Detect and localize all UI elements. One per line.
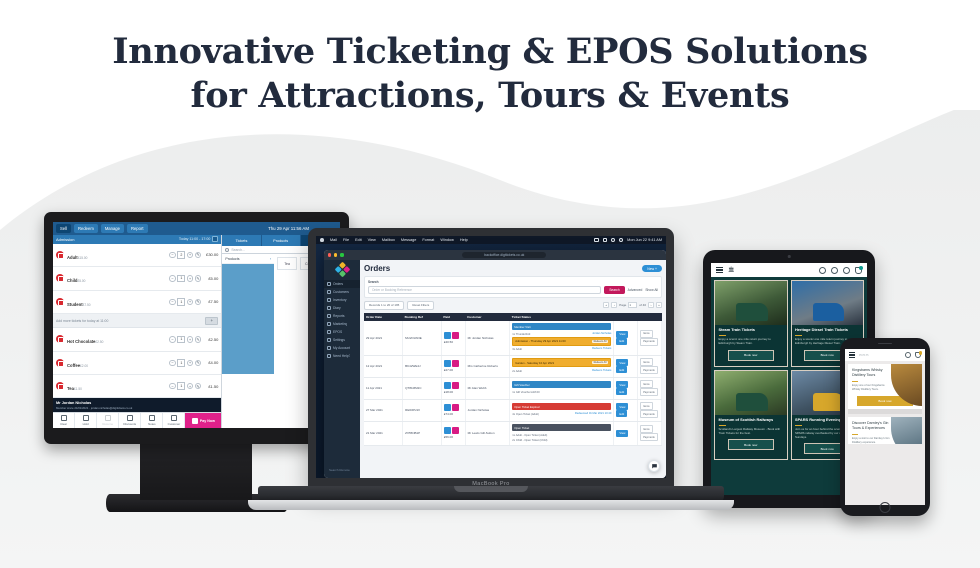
minus-icon[interactable]: −: [169, 252, 176, 259]
pos-pay-now-button[interactable]: Pay Now: [185, 413, 221, 428]
clear-icon: [61, 415, 67, 421]
product-title: Heritage Diesel Train Tickets: [795, 328, 860, 333]
menu-item-edit[interactable]: Edit: [355, 238, 362, 242]
basket-title: Admission: [56, 237, 74, 242]
line-sub: £2.00: [80, 364, 88, 368]
admin-app: Orders Customers Inventory Diary Reports…: [324, 260, 666, 478]
line-name: Student: [67, 302, 83, 307]
orders-icon: [327, 282, 331, 286]
account-icon[interactable]: [831, 267, 838, 274]
minus-icon[interactable]: −: [169, 336, 176, 343]
items-button[interactable]: Items: [640, 425, 652, 433]
qty-value[interactable]: 1: [177, 382, 185, 390]
table-row[interactable]: 29 Apr 2021 MU2OLW3E £40.50 Mr Jordan Ni…: [364, 321, 662, 356]
channel-icon: [444, 427, 451, 434]
table-row[interactable]: 27 Mar 2021 RE63PL9X £74.00 Jordan Nicho…: [364, 399, 662, 421]
cell-actions: ViewEdit: [614, 399, 638, 421]
menu-item-window[interactable]: Window: [440, 238, 454, 242]
menu-item-help[interactable]: Help: [460, 238, 468, 242]
pagination: « ‹ Page 1 of 40 › »: [603, 302, 662, 308]
line-name: Child: [67, 278, 77, 283]
cell-paid: £40.50: [441, 321, 465, 356]
macbook-screen: Mail File Edit View Mailbox Message Form…: [316, 236, 666, 478]
sidebar-item-reports[interactable]: Reports: [324, 312, 360, 320]
cell-status: Open Ticket 1x Adult - Open Ticket (Adul…: [510, 421, 614, 446]
cell-status: Member Visit 1x ThunderbirdJordan Nichol…: [510, 321, 614, 356]
divider: [795, 425, 802, 426]
minus-icon[interactable]: −: [169, 383, 176, 390]
search-icon: [225, 248, 229, 252]
browser-window: backoffice.digitickets.co.uk Orders Cust…: [324, 250, 666, 478]
line-sub: £15.00: [78, 256, 88, 260]
minus-icon[interactable]: −: [169, 360, 176, 367]
page-title: Innovative Ticketing & EPOS Solutions fo…: [0, 30, 980, 118]
remove-icon[interactable]: [56, 298, 64, 306]
status-badge: Open Ticket Expired: [512, 403, 611, 410]
marketing-icon: [327, 322, 331, 326]
admin-sidebar: Orders Customers Inventory Diary Reports…: [324, 260, 360, 478]
cell-customer: Mr Lewis Gill-Sutton: [465, 421, 510, 446]
cell-paid: £56.00: [441, 421, 465, 446]
qty-stepper[interactable]: −2+✎: [169, 251, 201, 259]
status-subline: 1x ThunderbirdJordan Nicholas: [512, 332, 611, 337]
plus-icon[interactable]: +: [187, 299, 194, 306]
cart-badge: [919, 351, 923, 355]
admin-content: Orders New + Search Order or Booking Ref…: [360, 260, 666, 478]
line-sub: £2.50: [95, 340, 103, 344]
line-price: £7.50: [201, 299, 218, 304]
payment-icon: [452, 427, 459, 434]
plus-icon[interactable]: +: [187, 383, 194, 390]
search-submit-button[interactable]: Search: [604, 286, 624, 294]
cell-booking-ref: ZX55NB1P: [403, 421, 442, 446]
basket-line-item[interactable]: Adult£15.00 −2+✎ £30.00: [53, 244, 221, 267]
qty-stepper[interactable]: −1+✎: [169, 359, 201, 367]
menu-item-mail[interactable]: Mail: [330, 238, 337, 242]
qty-value[interactable]: 1: [177, 298, 185, 306]
remove-icon[interactable]: [56, 251, 64, 259]
divider: [852, 434, 858, 435]
line-name: Adult: [67, 255, 78, 260]
product-title: Museum of Scottish Railways: [719, 418, 784, 423]
view-button[interactable]: View: [616, 403, 628, 410]
remove-icon[interactable]: [56, 359, 64, 367]
line-price: £5.00: [201, 276, 218, 281]
col-customer: Customer: [465, 313, 510, 321]
sidebar-footer[interactable]: Search Remote: [324, 466, 360, 474]
status-subline: 3x AdultRedeem Tickets: [512, 347, 611, 352]
divider: [852, 381, 858, 382]
line-price: £30.00: [201, 252, 218, 257]
page-input[interactable]: 1: [628, 302, 637, 308]
cell-booking-ref: MU2OLW3E: [403, 321, 442, 356]
cell-order-date: 27 Mar 2021: [364, 399, 403, 421]
view-button[interactable]: View: [616, 430, 628, 437]
payments-button[interactable]: Payments: [640, 338, 658, 346]
phone-speaker: [878, 343, 892, 345]
status-subline: 2x Child - Open Ticket (Child): [512, 438, 611, 443]
qty-stepper[interactable]: −1+✎: [169, 382, 201, 390]
cell-more: ItemsPayments: [638, 377, 662, 399]
search-label: Search: [368, 280, 658, 284]
payment-icon: [452, 332, 459, 339]
hold-icon: [83, 415, 89, 421]
col-paid: Paid: [441, 313, 465, 321]
product-card[interactable]: Discover Darnley's Gin Tours & Experienc…: [848, 417, 922, 445]
line-price: £1.50: [201, 384, 218, 389]
basket-line-item[interactable]: Student£7.50 −1+✎ £7.50: [53, 291, 221, 314]
menu-item-mailbox[interactable]: Mailbox: [382, 238, 395, 242]
sidebar-item-orders[interactable]: Orders: [324, 280, 360, 288]
cell-customer: Jordan Nicholas: [465, 399, 510, 421]
cell-order-date: 11 Apr 2021: [364, 377, 403, 399]
cell-paid: £74.00: [441, 399, 465, 421]
product-description: Scotland's Largest Railway Museum - Book…: [719, 428, 784, 436]
col-ticket-status: Ticket Status: [510, 313, 614, 321]
pos-discounts-button[interactable]: Discounts: [119, 413, 141, 428]
qty-stepper[interactable]: −1+✎: [169, 336, 201, 344]
pos-stand-neck: [140, 440, 252, 500]
remove-icon[interactable]: [56, 335, 64, 343]
items-button[interactable]: Items: [640, 358, 652, 366]
product-card[interactable]: Kingsbarns Whisky Distillery Tours Enjoy…: [848, 364, 922, 414]
browser-titlebar: backoffice.digitickets.co.uk: [324, 250, 666, 260]
product-title: Kingsbarns Whisky Distillery Tours: [852, 368, 890, 378]
prev-page-button[interactable]: ‹: [611, 302, 617, 308]
add-tickets-button[interactable]: +: [205, 317, 218, 325]
sidebar-item-settings[interactable]: Settings: [324, 336, 360, 344]
reports-icon: [327, 314, 331, 318]
first-page-button[interactable]: «: [603, 302, 609, 308]
payments-button[interactable]: Payments: [640, 433, 658, 441]
line-name: Coffee: [67, 363, 80, 368]
pos-resume-button: Resume: [97, 413, 119, 428]
reset-filters-button[interactable]: Reset Filters: [407, 301, 434, 310]
orders-page-title: Orders: [364, 264, 390, 273]
edit-button[interactable]: Edit: [616, 388, 627, 395]
gin-distillery-photo: [891, 417, 922, 445]
cell-more: ItemsPayments: [638, 421, 662, 446]
plus-icon[interactable]: +: [187, 275, 194, 282]
page-total: of 40: [639, 303, 646, 307]
col-actions: [614, 313, 638, 321]
pos-tab-report[interactable]: Report: [127, 224, 148, 233]
items-button[interactable]: Items: [640, 380, 652, 388]
customer-name: Mr Jordan Nicholas: [56, 401, 91, 405]
menu-item-format[interactable]: Format: [422, 238, 434, 242]
cell-booking-ref: RE63PL9X: [403, 399, 442, 421]
calendar-icon[interactable]: [212, 236, 218, 242]
cell-order-date: 12 Apr 2021: [364, 355, 403, 377]
wifi-icon[interactable]: [619, 238, 623, 242]
search-icon[interactable]: [843, 267, 850, 274]
cart-icon[interactable]: [915, 352, 921, 358]
col-booking-ref: Booking Ref: [403, 313, 442, 321]
basket-header: Admission Today 11:00 - 17:00: [53, 235, 221, 244]
remove-icon[interactable]: [56, 274, 64, 282]
cell-customer: Mr Jordan Nicholas: [465, 321, 510, 356]
product-description: Enjoy one of our Kingsbarns Whisky Disti…: [852, 384, 890, 391]
plus-icon[interactable]: +: [187, 252, 194, 259]
brand-logo-icon: [334, 262, 350, 278]
battery-icon[interactable]: [594, 238, 599, 242]
qty-value[interactable]: 2: [177, 251, 185, 259]
status-subline: 4x Open Ticket (Adult)Redeemed 01 Mar 20…: [512, 412, 611, 417]
channel-icon: [444, 404, 451, 411]
resume-icon: [105, 415, 111, 421]
diary-icon: [327, 306, 331, 310]
cell-booking-ref: BK42WE4J: [403, 355, 442, 377]
line-sub: £7.50: [83, 303, 91, 307]
cell-actions: ViewEdit: [614, 355, 638, 377]
phone-home-button[interactable]: [880, 502, 891, 513]
hamburger-icon[interactable]: [849, 352, 855, 358]
content-header: Orders New +: [364, 264, 662, 273]
new-order-button[interactable]: New +: [642, 265, 662, 272]
pos-tab-redeem[interactable]: Redeem: [74, 224, 98, 233]
cell-more: ItemsPayments: [638, 355, 662, 377]
customer-bar[interactable]: Mr Jordan Nicholas Member since 24/01/20…: [53, 398, 221, 412]
channel-icon: [444, 332, 451, 339]
next-page-button[interactable]: ›: [648, 302, 654, 308]
col-order-date: Order Date: [364, 313, 403, 321]
customer-icon: [171, 415, 177, 421]
line-price: £4.00: [201, 360, 218, 365]
divider: [795, 335, 802, 336]
qty-value[interactable]: 1: [177, 359, 185, 367]
basket-line-item[interactable]: Child£5.00 −1+✎ £5.00: [53, 267, 221, 290]
plus-icon[interactable]: +: [187, 336, 194, 343]
view-button[interactable]: View: [616, 331, 628, 338]
show-all-link[interactable]: Show All: [645, 288, 658, 292]
brand-logo[interactable]: 🏛: [728, 267, 734, 273]
diesel-train-photo: [792, 281, 864, 325]
payment-icon: [452, 404, 459, 411]
pos-clear-button[interactable]: Clear: [53, 413, 75, 428]
redeem-all-button[interactable]: Redeem All: [592, 340, 609, 343]
edit-button[interactable]: Edit: [616, 366, 627, 373]
cell-customer: Mr Alan Webb: [465, 377, 510, 399]
account-icon: [327, 346, 331, 350]
table-row[interactable]: 11 Apr 2021 QT81MM2C £18.00 Mr Alan Webb…: [364, 377, 662, 399]
sidebar-item-need-help[interactable]: Need Help?: [324, 352, 360, 360]
cart-badge: [859, 266, 863, 270]
pos-action-bar: Clear Hold Resume Discounts Notes Custom…: [53, 412, 221, 428]
sidebar-item-inventory[interactable]: Inventory: [324, 296, 360, 304]
tablet-site-header: 🏛: [711, 263, 867, 277]
notes-icon: [149, 415, 155, 421]
channel-icon: [444, 360, 451, 367]
chat-bubble-icon[interactable]: [648, 460, 660, 472]
view-button[interactable]: View: [616, 359, 628, 366]
edit-button[interactable]: Edit: [616, 338, 627, 345]
headline-line-2: for Attractions, Tours & Events: [0, 74, 980, 118]
macos-clock[interactable]: Mon Jun 22 9:41 AM: [627, 238, 662, 242]
minus-icon[interactable]: −: [169, 299, 176, 306]
book-now-button[interactable]: Book now: [728, 439, 774, 450]
status-badge: Member Visit: [512, 323, 611, 330]
remove-icon[interactable]: [56, 382, 64, 390]
hero-banner: Innovative Ticketing & EPOS Solutions fo…: [0, 0, 980, 568]
minus-icon[interactable]: −: [169, 275, 176, 282]
status-badge: Admission - Thursday 29 Apr 2021 11:00Re…: [512, 337, 611, 346]
cell-actions: ViewEdit: [614, 377, 638, 399]
book-now-button[interactable]: Book now: [728, 350, 774, 361]
catalog-tab-tickets[interactable]: Tickets: [222, 235, 261, 246]
payments-button[interactable]: Payments: [640, 366, 658, 374]
customer-email: Member since 24/01/2021 · jordan.nichola…: [56, 406, 218, 410]
cell-actions: View: [614, 421, 638, 446]
basket-line-item[interactable]: Coffee£2.00 −1+✎ £4.00: [53, 352, 221, 375]
catalog-search-placeholder: Search...: [231, 248, 245, 252]
close-icon[interactable]: [328, 253, 331, 256]
macbook-notch: [454, 486, 528, 492]
steam-train-photo: [715, 281, 787, 325]
pos-hold-button[interactable]: Hold: [75, 413, 97, 428]
epos-icon: [327, 330, 331, 334]
redeem-all-button[interactable]: Redeem All: [592, 361, 609, 364]
line-name: Hot Chocolate: [67, 339, 95, 344]
plus-icon[interactable]: +: [187, 360, 194, 367]
phone-site-header: ▭▭▭: [845, 349, 925, 361]
channel-icon: [444, 382, 451, 389]
search-icon[interactable]: [611, 238, 615, 242]
sidebar-item-my-account[interactable]: My Account: [324, 344, 360, 352]
search-icon[interactable]: [905, 352, 911, 358]
items-button[interactable]: Items: [640, 330, 652, 338]
pos-tab-manage[interactable]: Manage: [101, 224, 124, 233]
cell-order-date: 29 Apr 2021: [364, 321, 403, 356]
add-tickets-label: Add more tickets for today at 11:00: [56, 319, 108, 323]
orders-table: Order Date Booking Ref Paid Customer Tic…: [364, 313, 662, 447]
inventory-icon: [327, 298, 331, 302]
line-sub: £5.00: [77, 279, 85, 283]
cell-paid: £27.00: [441, 355, 465, 377]
page-label: Page: [619, 303, 626, 307]
last-page-button[interactable]: »: [656, 302, 662, 308]
card-footer-strip: [848, 409, 922, 414]
search-card: Search Order or Booking Reference Search…: [364, 276, 662, 298]
settings-icon: [327, 338, 331, 342]
status-badge: Gift Voucher: [512, 381, 611, 388]
cart-icon[interactable]: [855, 267, 862, 274]
bluetooth-icon[interactable]: [603, 238, 608, 242]
qty-value[interactable]: 1: [177, 336, 185, 344]
product-description: Enjoy a scenic one mile return journey t…: [719, 338, 784, 346]
customers-icon: [327, 290, 331, 294]
cell-actions: ViewEdit: [614, 321, 638, 356]
address-bar[interactable]: backoffice.digitickets.co.uk: [462, 252, 546, 258]
cell-paid: £18.00: [441, 377, 465, 399]
search-input[interactable]: Order or Booking Reference: [368, 286, 601, 294]
macbook-lid: Mail File Edit View Mailbox Message Form…: [308, 228, 674, 490]
items-button[interactable]: Items: [640, 402, 652, 410]
macos-menubar: Mail File Edit View Mailbox Message Form…: [316, 236, 666, 244]
phone-screen: ▭▭▭ Kingsbarns Whisky Distillery Tours E…: [845, 349, 925, 505]
sidebar-item-diary[interactable]: Diary: [324, 304, 360, 312]
sidebar-item-epos[interactable]: EPOS: [324, 328, 360, 336]
product-title: Steam Train Tickets: [719, 328, 784, 333]
cell-more: ItemsPayments: [638, 399, 662, 421]
museum-visitors-photo: [715, 371, 787, 415]
menu-item-message[interactable]: Message: [401, 238, 416, 242]
payment-icon: [452, 360, 459, 367]
discount-icon: [127, 415, 133, 421]
cell-status: Garden - Saturday 10 Apr 2021Redeem All …: [510, 355, 614, 377]
basket-line-item[interactable]: Hot Chocolate£2.50 −1+✎ £2.50: [53, 328, 221, 351]
line-price: £2.50: [201, 337, 218, 342]
sidebar-item-marketing[interactable]: Marketing: [324, 320, 360, 328]
advanced-search-link[interactable]: Advanced: [628, 288, 643, 292]
maximize-icon[interactable]: [340, 253, 343, 256]
payments-button[interactable]: Payments: [640, 388, 658, 396]
table-row[interactable]: 12 Apr 2021 BK42WE4J £27.00 Mrs Catherin…: [364, 355, 662, 377]
product-description: Enjoy a visit to our Darnley's Gin Disti…: [852, 437, 890, 444]
product-title: Discover Darnley's Gin Tours & Experienc…: [852, 421, 890, 431]
status-badge: Garden - Saturday 10 Apr 2021Redeem All: [512, 358, 611, 367]
macbook-foot: [248, 500, 734, 510]
card-icon: [192, 418, 198, 424]
home-icon[interactable]: [819, 267, 826, 274]
apple-icon[interactable]: [320, 238, 324, 242]
edit-button[interactable]: Edit: [616, 410, 627, 417]
basket-meta: Today 11:00 - 17:00: [179, 236, 219, 242]
product-card[interactable]: Museum of Scottish Railways Scotland's L…: [714, 370, 788, 461]
status-subline: 2x AdultRedeem Tickets: [512, 369, 611, 374]
cell-order-date: 21 Mar 2021: [364, 421, 403, 446]
line-name: Tea: [67, 386, 74, 391]
help-icon: [327, 354, 331, 358]
cell-customer: Mrs Catherine Roberts: [465, 355, 510, 377]
sidebar-item-customers[interactable]: Customers: [324, 288, 360, 296]
col-more: [638, 313, 662, 321]
pos-customer-button[interactable]: Customer: [163, 413, 185, 428]
cell-booking-ref: QT81MM2C: [403, 377, 442, 399]
line-sub: £1.50: [74, 387, 82, 391]
payment-icon: [452, 382, 459, 389]
basket-line-item[interactable]: Tea£1.50 −1+✎ £1.50: [53, 375, 221, 398]
add-tickets-row[interactable]: Add more tickets for today at 11:00 +: [53, 314, 221, 328]
headline-line-1: Innovative Ticketing & EPOS Solutions: [0, 30, 980, 74]
cell-status: Open Ticket Expired 4x Open Ticket (Adul…: [510, 399, 614, 421]
phone-device: ▭▭▭ Kingsbarns Whisky Distillery Tours E…: [840, 338, 930, 516]
macbook-device: Mail File Edit View Mailbox Message Form…: [258, 228, 724, 530]
record-count: Records 1 to 20 of 195: [364, 301, 404, 310]
table-row[interactable]: 21 Mar 2021 ZX55NB1P £56.00 Mr Lewis Gil…: [364, 421, 662, 446]
menu-item-view[interactable]: View: [368, 238, 376, 242]
qty-value[interactable]: 1: [177, 275, 185, 283]
orders-table-header: Order Date Booking Ref Paid Customer Tic…: [364, 313, 662, 321]
menu-item-file[interactable]: File: [343, 238, 349, 242]
filter-bar: Records 1 to 20 of 195 Reset Filters « ‹…: [364, 301, 662, 310]
qty-stepper[interactable]: −1+✎: [169, 275, 201, 283]
product-card[interactable]: Steam Train Tickets Enjoy a scenic one m…: [714, 280, 788, 367]
payments-button[interactable]: Payments: [640, 410, 658, 418]
minimize-icon[interactable]: [334, 253, 337, 256]
qty-stepper[interactable]: −1+✎: [169, 298, 201, 306]
pos-basket-panel: Admission Today 11:00 - 17:00 Adult£15.0…: [53, 235, 222, 428]
pos-tab-sell[interactable]: Sell: [56, 224, 71, 233]
brand-logo[interactable]: ▭▭▭: [859, 353, 869, 357]
cell-more: ItemsPayments: [638, 321, 662, 356]
cell-status: Gift Voucher 1x Gift Voucher £18.00: [510, 377, 614, 399]
view-button[interactable]: View: [616, 381, 628, 388]
pos-notes-button[interactable]: Notes: [141, 413, 163, 428]
status-subline: 1x Gift Voucher £18.00: [512, 390, 611, 395]
tablet-camera: [788, 255, 791, 258]
status-badge: Open Ticket: [512, 424, 611, 431]
